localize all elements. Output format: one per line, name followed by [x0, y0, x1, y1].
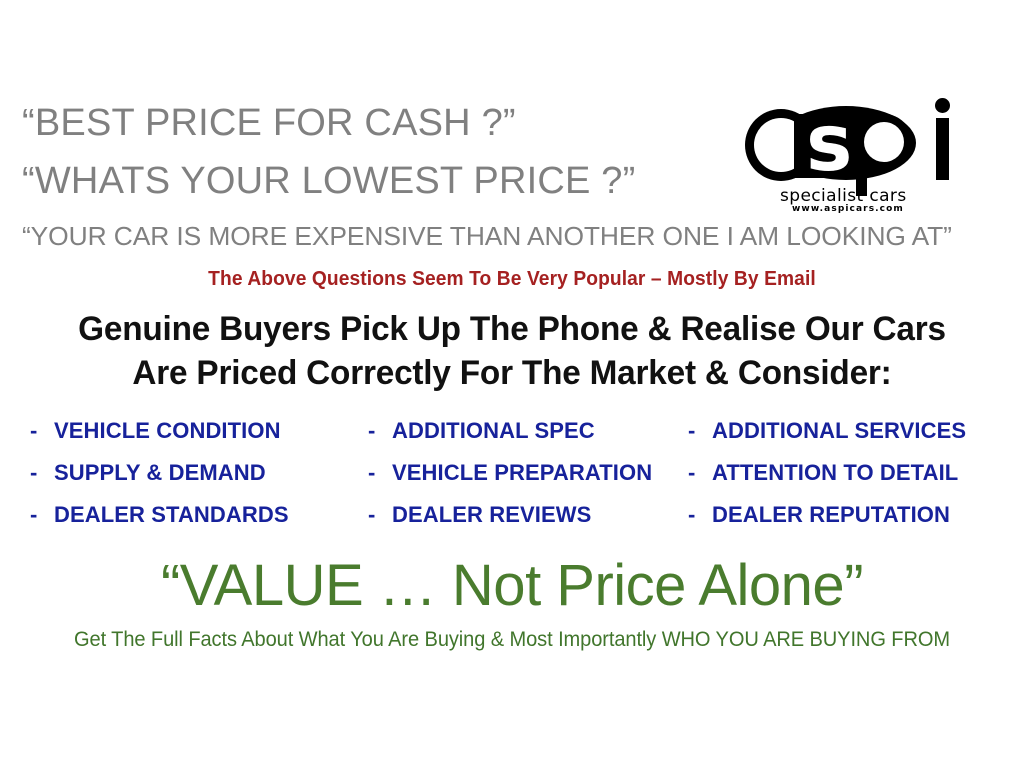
- bullet-dash-icon: -: [368, 502, 392, 528]
- logo-letter-s: s: [806, 120, 852, 168]
- considerations-list: - VEHICLE CONDITION - SUPPLY & DEMAND - …: [30, 418, 994, 544]
- list-item-label: ATTENTION TO DETAIL: [712, 460, 958, 486]
- list-item: - DEALER STANDARDS: [30, 502, 368, 544]
- bullet-dash-icon: -: [30, 418, 54, 444]
- closing-subline: Get The Full Facts About What You Are Bu…: [23, 628, 1001, 652]
- slide-canvas: s specialist cars www.aspicars.com “BEST…: [0, 0, 1024, 768]
- logo-letter-p-bowl: [864, 122, 904, 162]
- closing-headline: “VALUE … Not Price Alone”: [0, 552, 1024, 619]
- logo-letter-i-stem: [936, 118, 949, 180]
- considerations-column-3: - ADDITIONAL SERVICES - ATTENTION TO DET…: [688, 418, 994, 544]
- list-item-label: VEHICLE PREPARATION: [392, 460, 652, 486]
- list-item-label: VEHICLE CONDITION: [54, 418, 281, 444]
- list-item: - ADDITIONAL SPEC: [368, 418, 688, 460]
- aspi-logo[interactable]: s specialist cars www.aspicars.com: [748, 104, 964, 220]
- main-headline: Genuine Buyers Pick Up The Phone & Reali…: [0, 308, 1024, 395]
- considerations-column-2: - ADDITIONAL SPEC - VEHICLE PREPARATION …: [368, 418, 688, 544]
- bullet-dash-icon: -: [368, 460, 392, 486]
- bullet-dash-icon: -: [30, 502, 54, 528]
- main-headline-line-1: Genuine Buyers Pick Up The Phone & Reali…: [10, 308, 1014, 352]
- list-item: - VEHICLE PREPARATION: [368, 460, 688, 502]
- list-item-label: DEALER REVIEWS: [392, 502, 591, 528]
- list-item-label: ADDITIONAL SERVICES: [712, 418, 966, 444]
- aspi-wordmark-icon: s: [748, 104, 964, 188]
- quote-line-1: “BEST PRICE FOR CASH ?”: [22, 102, 516, 145]
- list-item-label: DEALER STANDARDS: [54, 502, 289, 528]
- list-item: - VEHICLE CONDITION: [30, 418, 368, 460]
- quote-line-3: “YOUR CAR IS MORE EXPENSIVE THAN ANOTHER…: [22, 221, 952, 252]
- bullet-dash-icon: -: [368, 418, 392, 444]
- main-headline-line-2: Are Priced Correctly For The Market & Co…: [10, 352, 1014, 396]
- list-item: - DEALER REVIEWS: [368, 502, 688, 544]
- bullet-dash-icon: -: [688, 460, 712, 486]
- logo-website-url: www.aspicars.com: [792, 204, 904, 214]
- list-item-label: ADDITIONAL SPEC: [392, 418, 595, 444]
- list-item: - ATTENTION TO DETAIL: [688, 460, 994, 502]
- bullet-dash-icon: -: [30, 460, 54, 486]
- bullet-dash-icon: -: [688, 502, 712, 528]
- logo-tagline: specialist cars: [780, 186, 907, 206]
- considerations-column-1: - VEHICLE CONDITION - SUPPLY & DEMAND - …: [30, 418, 368, 544]
- list-item: - DEALER REPUTATION: [688, 502, 994, 544]
- quote-line-2: “WHATS YOUR LOWEST PRICE ?”: [22, 160, 635, 203]
- red-subtitle-note: The Above Questions Seem To Be Very Popu…: [20, 268, 1003, 291]
- list-item: - SUPPLY & DEMAND: [30, 460, 368, 502]
- list-item: - ADDITIONAL SERVICES: [688, 418, 994, 460]
- bullet-dash-icon: -: [688, 418, 712, 444]
- logo-letter-i-dot: [935, 98, 950, 113]
- list-item-label: SUPPLY & DEMAND: [54, 460, 266, 486]
- list-item-label: DEALER REPUTATION: [712, 502, 950, 528]
